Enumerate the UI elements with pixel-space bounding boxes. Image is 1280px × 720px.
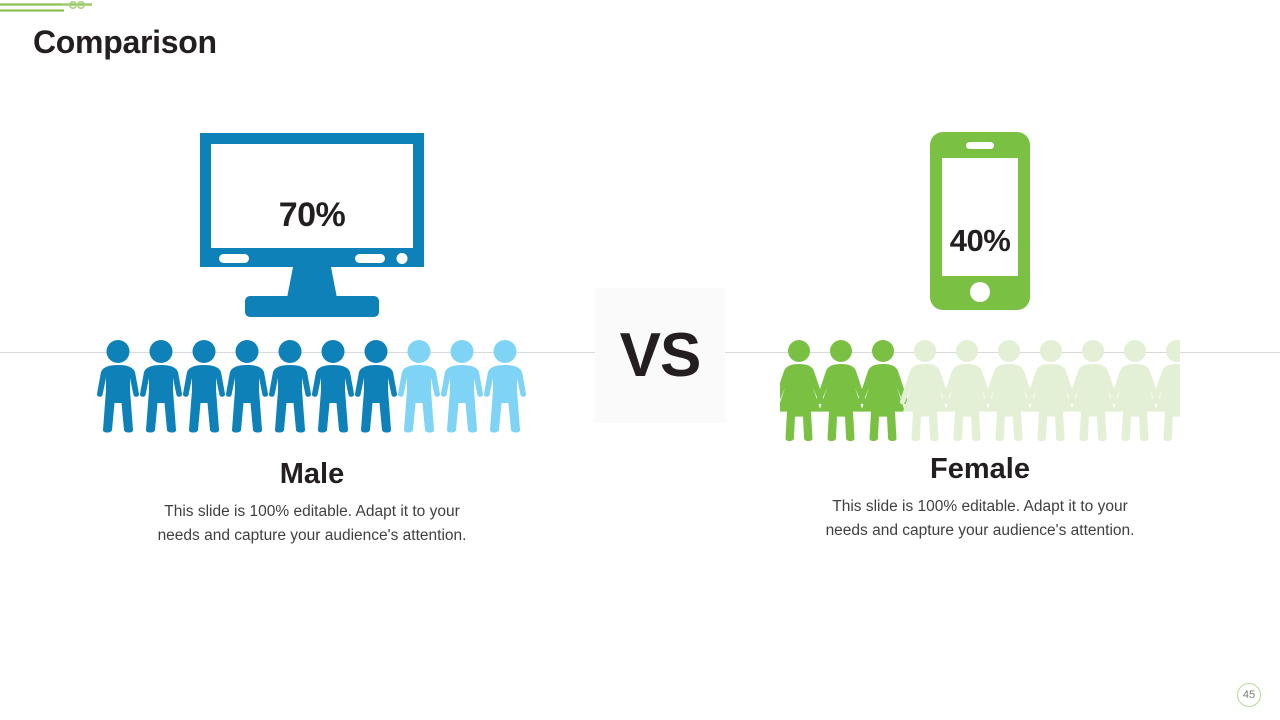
male-pictogram-row [52, 340, 572, 442]
vs-badge: VS [595, 288, 725, 423]
male-heading: Male [52, 458, 572, 491]
comparison-column-male: 70% [52, 130, 572, 547]
vs-label: VS [620, 325, 701, 387]
page-title: Comparison [33, 24, 217, 61]
decorative-ornament [0, 0, 110, 18]
female-heading: Female [720, 453, 1240, 486]
female-percent-value: 40% [950, 223, 1011, 258]
female-pictogram-row [720, 340, 1240, 442]
slide-canvas: Comparison VS 70% [0, 0, 1280, 720]
female-description: This slide is 100% editable. Adapt it to… [820, 495, 1140, 542]
page-number-badge: 45 [1237, 683, 1261, 707]
comparison-column-female: 40% [720, 130, 1240, 542]
male-percent-value: 70% [279, 196, 346, 234]
male-description: This slide is 100% editable. Adapt it to… [152, 500, 472, 547]
